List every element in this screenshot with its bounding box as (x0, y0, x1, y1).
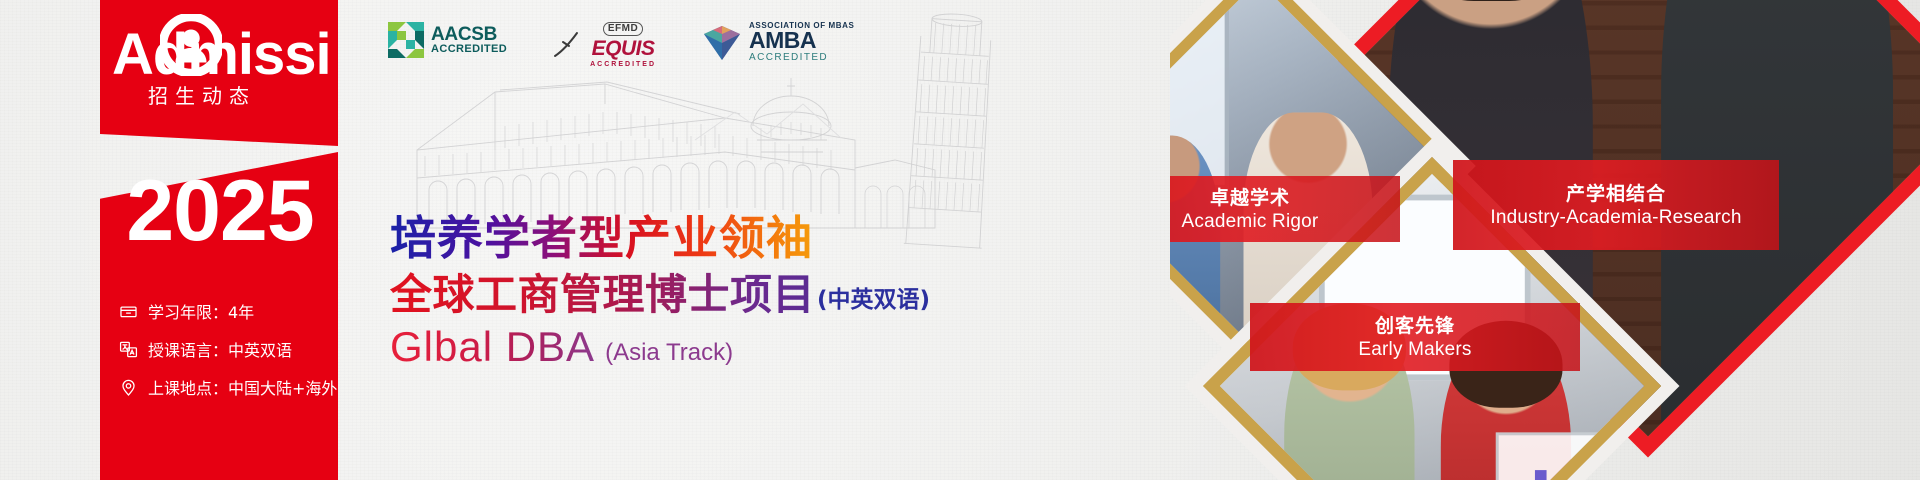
location-pin-icon (118, 377, 138, 397)
headline-block: 培养学者型产业领袖 全球工商管理博士项目 (中英双语) Glbal DBA (A… (390, 210, 930, 372)
headline-line3: Glbal DBA (390, 322, 595, 372)
aacsb-sub: ACCREDITED (431, 44, 507, 55)
amba-diamond-icon (702, 24, 742, 62)
feature-label-makers: 创客先锋 Early Makers (1250, 303, 1580, 371)
feature-label-en: Early Makers (1358, 338, 1471, 361)
feature-label-en: Industry-Academia-Research (1490, 206, 1741, 229)
headline-line2-note: (中英双语) (817, 280, 930, 320)
feature-label-industry: 产学相结合 Industry-Academia-Research (1453, 160, 1779, 250)
archive-box-icon (118, 301, 138, 321)
info-text-language: 授课语言：中英双语 (148, 337, 292, 361)
efmd-label: EFMD (603, 22, 643, 36)
feature-label-cn: 产学相结合 (1566, 182, 1666, 206)
feature-label-cn: 创客先锋 (1375, 314, 1455, 338)
amba-sub: ACCREDITED (749, 53, 854, 63)
headline-line2: 全球工商管理博士项目 (390, 270, 815, 320)
accreditation-equis: EFMD EQUIS ACCREDITED (553, 22, 656, 68)
photo-collage: 卓越学术 Academic Rigor 产学相结合 Industry-Acade… (1170, 0, 1920, 480)
info-text-location: 上课地点：中国大陆+海外 (148, 375, 337, 399)
accreditation-amba: ASSOCIATION OF MBAS AMBA ACCREDITED (702, 22, 854, 63)
aacsb-name: AACSB (431, 25, 507, 44)
feature-label-en: Academic Rigor (1182, 210, 1319, 233)
headline-line1: 培养学者型产业领袖 (390, 210, 930, 266)
amba-name: AMBA (749, 29, 854, 52)
feature-label-cn: 卓越学术 (1210, 186, 1290, 210)
photo-chart-monitor (1496, 432, 1632, 480)
person-in-circle-icon (160, 14, 222, 76)
equis-swoosh-icon (553, 30, 583, 60)
info-row-duration: 学习年限：4年 (118, 292, 348, 330)
info-row-location: 上课地点：中国大陆+海外 (118, 368, 348, 406)
admission-chinese-label: 招生动态 (148, 80, 256, 109)
year-label: 2025 (110, 168, 330, 254)
headline-line3-note: (Asia Track) (605, 339, 733, 372)
admission-logo: Admissi 招生动态 (112, 26, 338, 118)
accreditation-logos: AACSB ACCREDITED EFMD EQUIS ACCREDITED (388, 22, 855, 68)
equis-name: EQUIS (592, 38, 655, 59)
feature-label-academic: 卓越学术 Academic Rigor (1170, 176, 1400, 242)
equis-sub: ACCREDITED (590, 61, 656, 68)
info-text-duration: 学习年限：4年 (148, 299, 254, 323)
aacsb-logo-icon (388, 22, 424, 58)
info-row-language: 授课语言：中英双语 (118, 330, 348, 368)
accreditation-aacsb: AACSB ACCREDITED (388, 22, 507, 58)
program-info-list: 学习年限：4年 授课语言：中英双语 上课地点：中国大陆+海外 (118, 292, 348, 406)
admission-banner: Admissi 招生动态 2025 学习年限：4年 (0, 0, 1920, 480)
language-icon (118, 339, 138, 359)
